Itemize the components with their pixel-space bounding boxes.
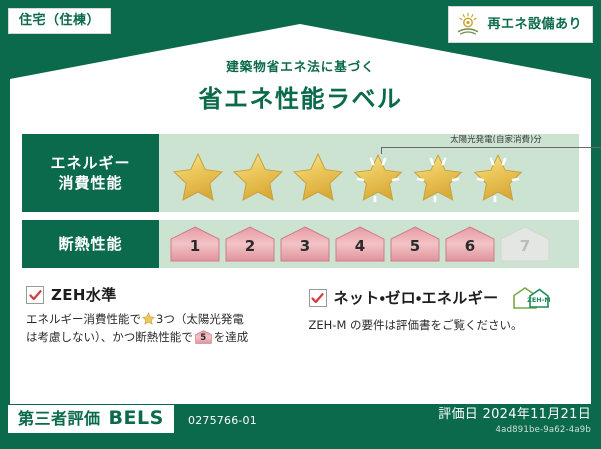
- bels-logo-text: BELS: [109, 409, 164, 428]
- grade-value: 6: [465, 239, 475, 263]
- star-icon-inline: [142, 312, 155, 325]
- star-icon-solar: [409, 149, 467, 205]
- star-icon: [169, 149, 227, 205]
- energy-star-rating: [159, 149, 527, 205]
- zeh-standard-block: ZEH水準 エネルギー消費性能で3つ（太陽光発電は考慮しない）、かつ断熱性能で5…: [26, 286, 293, 347]
- net-zero-energy-title: ネット・ゼロ・エネルギー: [334, 291, 499, 306]
- grade-house-7: 7: [499, 225, 551, 263]
- registration-number: 0275766-01: [188, 415, 257, 426]
- label-card: エネルギー 消費性能 太陽光発電(自家消費)分: [22, 118, 579, 396]
- grade-badge-value: 5: [195, 330, 212, 344]
- energy-label-line1: エネルギー: [50, 153, 130, 173]
- svg-text:ZEH-M: ZEH-M: [527, 296, 550, 304]
- insulation-performance-row: 断熱性能 1: [22, 220, 579, 268]
- grade-value: 4: [355, 239, 365, 263]
- bels-certification-box: 第三者評価 BELS: [8, 405, 174, 433]
- grade-value: 2: [245, 239, 255, 263]
- zeh-standard-header: ZEH水準: [26, 286, 283, 304]
- grade-house-5: 5: [389, 225, 441, 263]
- checkbox-zeh-standard[interactable]: [26, 286, 44, 304]
- grade-value: 5: [410, 239, 420, 263]
- evaluation-date-value: 2024年11月21日: [483, 407, 591, 422]
- zeh-desc-part3: は考慮しない）、かつ断熱性能で: [26, 330, 193, 344]
- zeh-standard-description: エネルギー消費性能で3つ（太陽光発電は考慮しない）、かつ断熱性能で5を達成: [26, 311, 283, 347]
- insulation-grade-scale: 1 2 3: [159, 225, 551, 263]
- zeh-section: ZEH水準 エネルギー消費性能で3つ（太陽光発電は考慮しない）、かつ断熱性能で5…: [22, 286, 579, 347]
- renewable-equipment-badge: 再エネ設備あり: [448, 6, 593, 43]
- evaluation-date-label: 評価日: [438, 407, 478, 422]
- solar-contribution-annotation: 太陽光発電(自家消費)分: [381, 136, 601, 154]
- grade-house-3: 3: [279, 225, 331, 263]
- solar-contribution-text: 太陽光発電(自家消費)分: [381, 136, 601, 145]
- energy-performance-body: 太陽光発電(自家消費)分: [159, 134, 579, 212]
- grade-value: 7: [520, 239, 530, 263]
- third-party-eval-label: 第三者評価: [18, 411, 101, 427]
- star-icon-solar: [349, 149, 407, 205]
- label-headings: 建築物省エネ法に基づく 省エネ性能ラベル: [0, 56, 601, 114]
- renewable-equipment-label: 再エネ設備あり: [487, 18, 582, 31]
- energy-label-line2: 消費性能: [58, 173, 122, 193]
- star-icon-solar: [469, 149, 527, 205]
- energy-performance-label: エネルギー 消費性能: [22, 134, 159, 212]
- label-subtitle: 建築物省エネ法に基づく: [0, 56, 601, 75]
- document-hash: 4ad891be-9a62-4a9b: [496, 426, 591, 435]
- sun-icon: [455, 11, 481, 37]
- energy-label-root: 住宅（住棟） 再エネ設備あり 建築物省エネ法に基づく 省エネ性能ラベル: [0, 0, 601, 449]
- grade-value: 1: [190, 239, 200, 263]
- building-type-tag: 住宅（住棟）: [8, 8, 111, 34]
- net-zero-energy-header: ネット・ゼロ・エネルギー ZEH-M: [309, 286, 566, 310]
- page-title: 省エネ性能ラベル: [0, 79, 601, 114]
- insulation-performance-body: 1 2 3: [159, 220, 579, 268]
- evaluation-date: 評価日 2024年11月21日: [438, 408, 591, 421]
- grade-house-2: 2: [224, 225, 276, 263]
- zeh-desc-part4: を達成: [214, 330, 249, 344]
- solar-bracket: [381, 147, 601, 154]
- energy-performance-row: エネルギー 消費性能 太陽光発電(自家消費)分: [22, 134, 579, 212]
- zeh-desc-part1: エネルギー消費性能で: [26, 312, 141, 326]
- grade-house-1: 1: [169, 225, 221, 263]
- net-zero-energy-description: ZEH-M の要件は評価書をご覧ください。: [309, 317, 566, 335]
- star-icon: [289, 149, 347, 205]
- grade-value: 3: [300, 239, 310, 263]
- zeh-m-logo-icon: ZEH-M: [508, 286, 550, 310]
- star-icon: [229, 149, 287, 205]
- grade-house-4: 4: [334, 225, 386, 263]
- grade-badge-inline: 5: [195, 330, 212, 344]
- zeh-desc-part2: 3つ（太陽光発電: [156, 312, 244, 326]
- insulation-label-text: 断熱性能: [58, 234, 122, 254]
- building-type-label: 住宅（住棟）: [19, 13, 100, 28]
- label-footer: 第三者評価 BELS 0275766-01 評価日 2024年11月21日 4a…: [0, 399, 601, 449]
- checkbox-net-zero-energy[interactable]: [309, 289, 327, 307]
- net-zero-energy-block: ネット・ゼロ・エネルギー ZEH-M ZEH-M の要件は評価書をご覧ください。: [293, 286, 576, 347]
- insulation-performance-label: 断熱性能: [22, 220, 159, 268]
- zeh-standard-title: ZEH水準: [51, 288, 117, 303]
- grade-house-6: 6: [444, 225, 496, 263]
